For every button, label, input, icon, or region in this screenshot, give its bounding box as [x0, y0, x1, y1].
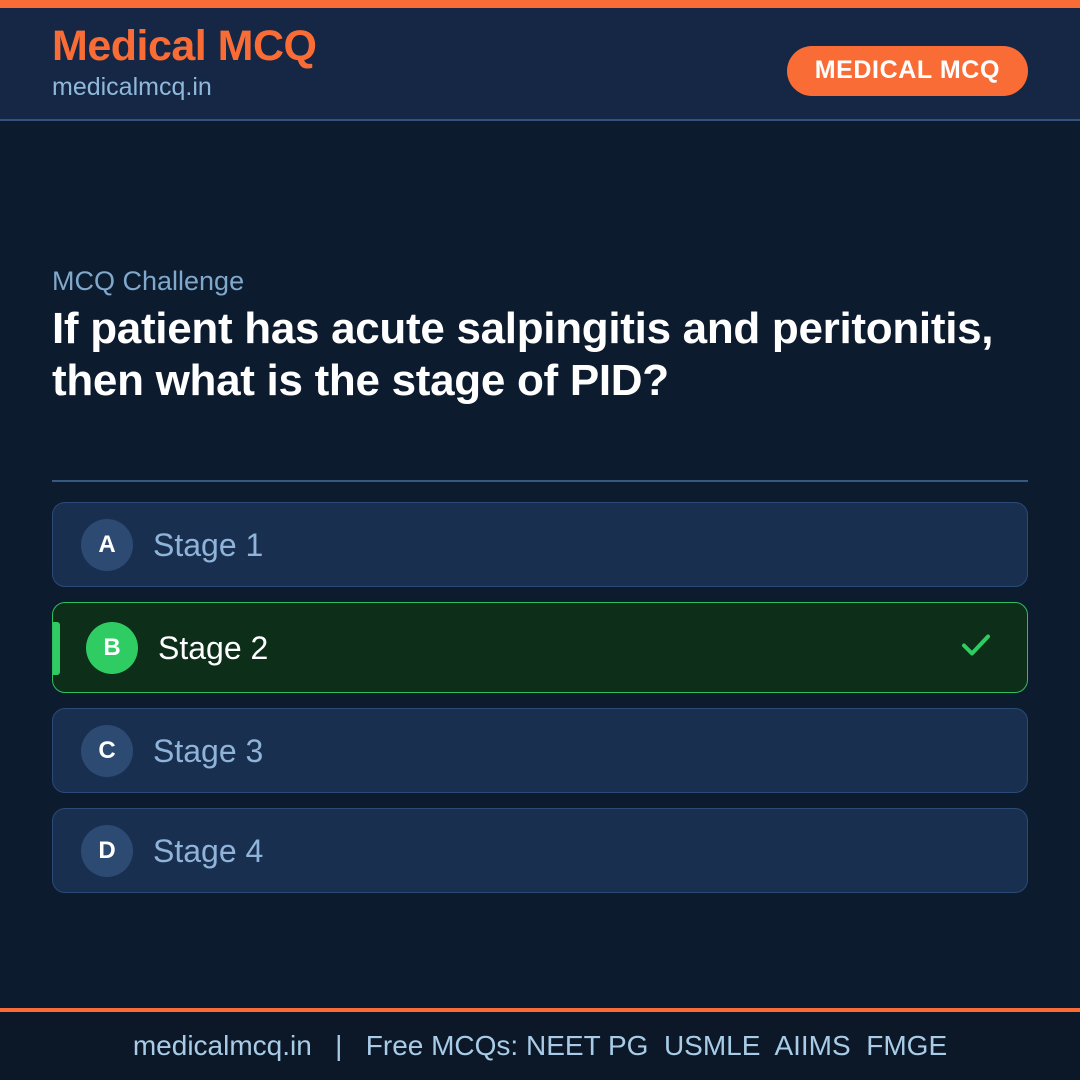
option-d[interactable]: D Stage 4 — [52, 808, 1028, 893]
option-label: Stage 4 — [153, 835, 263, 867]
brand-title: Medical MCQ — [52, 22, 317, 70]
footer-text: medicalmcq.in | Free MCQs: NEET PG USMLE… — [133, 1032, 947, 1060]
page-header: Medical MCQ medicalmcq.in MEDICAL MCQ — [0, 8, 1080, 121]
question-text: If patient has acute salpingitis and per… — [52, 303, 1002, 407]
top-accent-bar — [0, 0, 1080, 8]
option-a[interactable]: A Stage 1 — [52, 502, 1028, 587]
option-label: Stage 1 — [153, 529, 263, 561]
eyebrow-label: MCQ Challenge — [52, 268, 244, 295]
option-letter-badge: C — [81, 725, 133, 777]
brand-block: Medical MCQ medicalmcq.in — [52, 22, 317, 103]
main-content: MCQ Challenge If patient has acute salpi… — [0, 123, 1080, 1012]
brand-subtitle: medicalmcq.in — [52, 72, 317, 103]
header-badge: MEDICAL MCQ — [787, 46, 1028, 96]
option-letter-badge: A — [81, 519, 133, 571]
selection-accent-bar — [53, 622, 60, 675]
option-letter-badge: B — [86, 622, 138, 674]
option-letter-badge: D — [81, 825, 133, 877]
check-icon — [959, 628, 993, 667]
option-b[interactable]: B Stage 2 — [52, 602, 1028, 693]
option-label: Stage 2 — [158, 632, 268, 664]
options-list: A Stage 1 B Stage 2 C Stage 3 — [52, 502, 1028, 908]
page-footer: medicalmcq.in | Free MCQs: NEET PG USMLE… — [0, 1012, 1080, 1080]
option-c[interactable]: C Stage 3 — [52, 708, 1028, 793]
question-divider — [52, 480, 1028, 482]
option-label: Stage 3 — [153, 735, 263, 767]
